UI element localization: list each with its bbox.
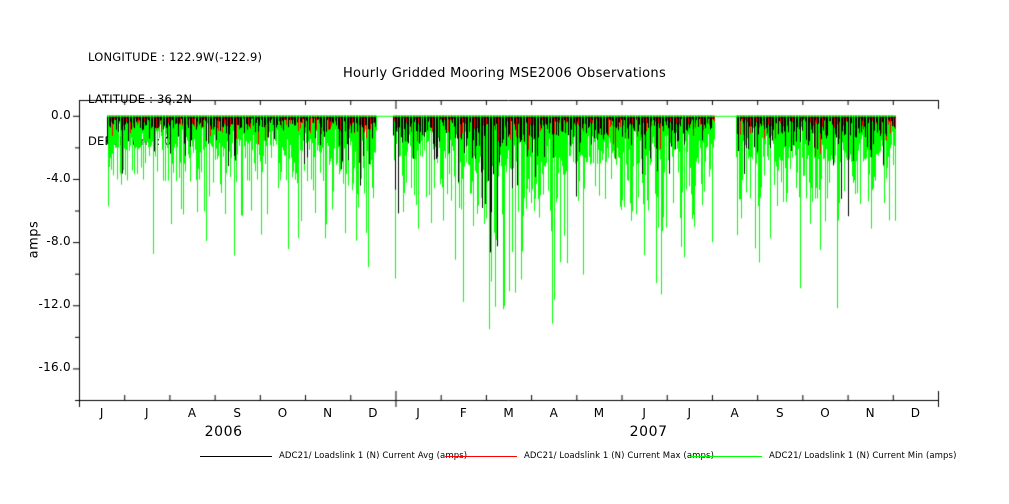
legend-label: ADC21/ Loadslink 1 (N) Current Max (amps… [524,451,714,461]
year-label: 2006 [179,424,269,440]
x-tick-label: J [90,406,114,420]
legend-color-swatch [445,456,517,457]
legend-item: ADC21/ Loadslink 1 (N) Current Max (amps… [445,446,714,466]
x-tick-label: M [497,406,521,420]
timeseries-plot [0,0,1009,504]
x-tick-label: D [903,406,927,420]
x-tick-label: O [270,406,294,420]
x-tick-label: S [225,406,249,420]
x-tick-label: J [406,406,430,420]
chart-legend: ADC21/ Loadslink 1 (N) Current Avg (amps… [0,446,1009,466]
x-tick-label: J [632,406,656,420]
x-tick-label: F [451,406,475,420]
legend-label: ADC21/ Loadslink 1 (N) Current Min (amps… [769,451,957,461]
x-tick-label: N [316,406,340,420]
legend-color-swatch [200,456,272,457]
year-label: 2007 [604,424,694,440]
y-tick-label: -8.0 [5,234,71,248]
x-tick-label: J [677,406,701,420]
legend-color-swatch [690,456,762,457]
y-tick-label: -4.0 [5,171,71,185]
x-tick-label: N [858,406,882,420]
legend-item: ADC21/ Loadslink 1 (N) Current Min (amps… [690,446,957,466]
chart-page: LONGITUDE : 122.9W(-122.9) LATITUDE : 36… [0,0,1009,504]
legend-item: ADC21/ Loadslink 1 (N) Current Avg (amps… [200,446,467,466]
x-tick-label: O [813,406,837,420]
x-tick-label: A [723,406,747,420]
x-tick-label: D [361,406,385,420]
y-tick-label: -12.0 [5,297,71,311]
y-tick-label: 0.0 [5,108,71,122]
y-tick-label: -16.0 [5,360,71,374]
x-tick-label: M [587,406,611,420]
x-tick-label: J [135,406,159,420]
x-tick-label: A [180,406,204,420]
x-tick-label: A [542,406,566,420]
legend-label: ADC21/ Loadslink 1 (N) Current Avg (amps… [279,451,467,461]
x-tick-label: S [768,406,792,420]
